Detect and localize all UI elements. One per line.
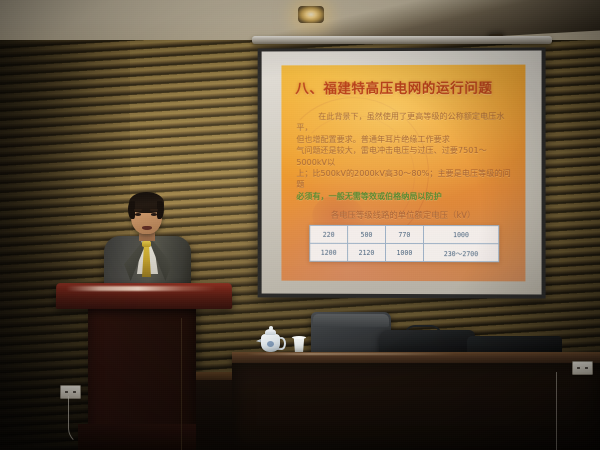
- speaker-mouth: [142, 226, 152, 230]
- ceiling-spotlight-icon: [298, 6, 324, 23]
- lectern-top-highlight: [66, 286, 216, 291]
- wall-power-socket-right: [572, 361, 593, 375]
- teapot-decoration: [267, 341, 274, 347]
- socket-cable-right: [556, 372, 557, 450]
- slide-body-line-4: 上；比500kV的2000kV高30～80%；主要是电压等级的问题: [296, 168, 517, 191]
- socket-hole: [577, 367, 580, 369]
- projection-screen: 八、福建特高压电网的运行问题 在此背景下，虽然使用了更高等级的公称额定电压水平，…: [258, 47, 546, 298]
- table-cell: 230～2700: [423, 244, 498, 262]
- speaker-eyebrow-right: [150, 209, 158, 211]
- speaker-tie-knot: [142, 241, 151, 247]
- briefcase-flap: [313, 314, 389, 327]
- table-cell: 1000: [385, 243, 423, 261]
- table-cell: 1200: [310, 243, 348, 261]
- socket-hole: [65, 391, 68, 393]
- table-cell: 500: [348, 225, 386, 243]
- slide-body-line-5-highlight: 必须有，一般无需等效或伯格纳局以防护: [296, 191, 517, 203]
- speaker-eye-left: [135, 213, 141, 216]
- wall-cable-center: [181, 318, 182, 450]
- paper-cup: [293, 337, 305, 352]
- conference-room-photo: 八、福建特高压电网的运行问题 在此背景下，虽然使用了更高等级的公称额定电压水平，…: [0, 0, 600, 450]
- slide-data-table: 220 500 770 1000 1200 2120 1000 230～2700: [309, 225, 499, 262]
- table-cell: 770: [385, 225, 423, 243]
- table-row: 220 500 770 1000: [310, 225, 499, 243]
- slide-body-line-3: 气问题还是较大，雷电冲击电压与过压、过要7501～5000kV以: [296, 145, 517, 168]
- slide-body-line-1: 在此背景下，虽然使用了更高等级的公称额定电压水平，: [296, 111, 517, 134]
- table-cell: 2120: [348, 243, 386, 261]
- table-edge-highlight: [246, 353, 456, 355]
- conference-table-front: [232, 363, 600, 450]
- speaker-eyebrow-left: [134, 209, 142, 211]
- slide-body-line-2: 但也增配置要求。普通年耳片绝缘工作要求: [296, 134, 517, 146]
- slide-table-caption: 各电压等级线路的单位额定电压（kV）: [281, 209, 525, 221]
- speaker-eye-right: [151, 213, 157, 216]
- lectern-base: [78, 424, 206, 450]
- table-cell: 220: [310, 225, 348, 243]
- teapot-knob: [269, 326, 273, 330]
- slide-body-text: 在此背景下，虽然使用了更高等级的公称额定电压水平， 但也增配置要求。普通年耳片绝…: [296, 111, 517, 203]
- paper-cup-rim: [292, 336, 306, 339]
- slide-title: 八、福建特高压电网的运行问题: [295, 77, 517, 98]
- lectern-top: [56, 283, 232, 309]
- projection-screen-border: 八、福建特高压电网的运行问题 在此背景下，虽然使用了更高等级的公称额定电压水平，…: [262, 50, 542, 294]
- table-cell: 1000: [423, 226, 498, 244]
- table-row: 1200 2120 1000 230～2700: [310, 243, 499, 261]
- socket-hole: [73, 391, 76, 393]
- socket-cable-left: [68, 396, 85, 445]
- socket-hole: [585, 367, 588, 369]
- projected-slide: 八、福建特高压电网的运行问题 在此背景下，虽然使用了更高等级的公称额定电压水平，…: [281, 65, 525, 282]
- projection-screen-roller: [252, 36, 552, 44]
